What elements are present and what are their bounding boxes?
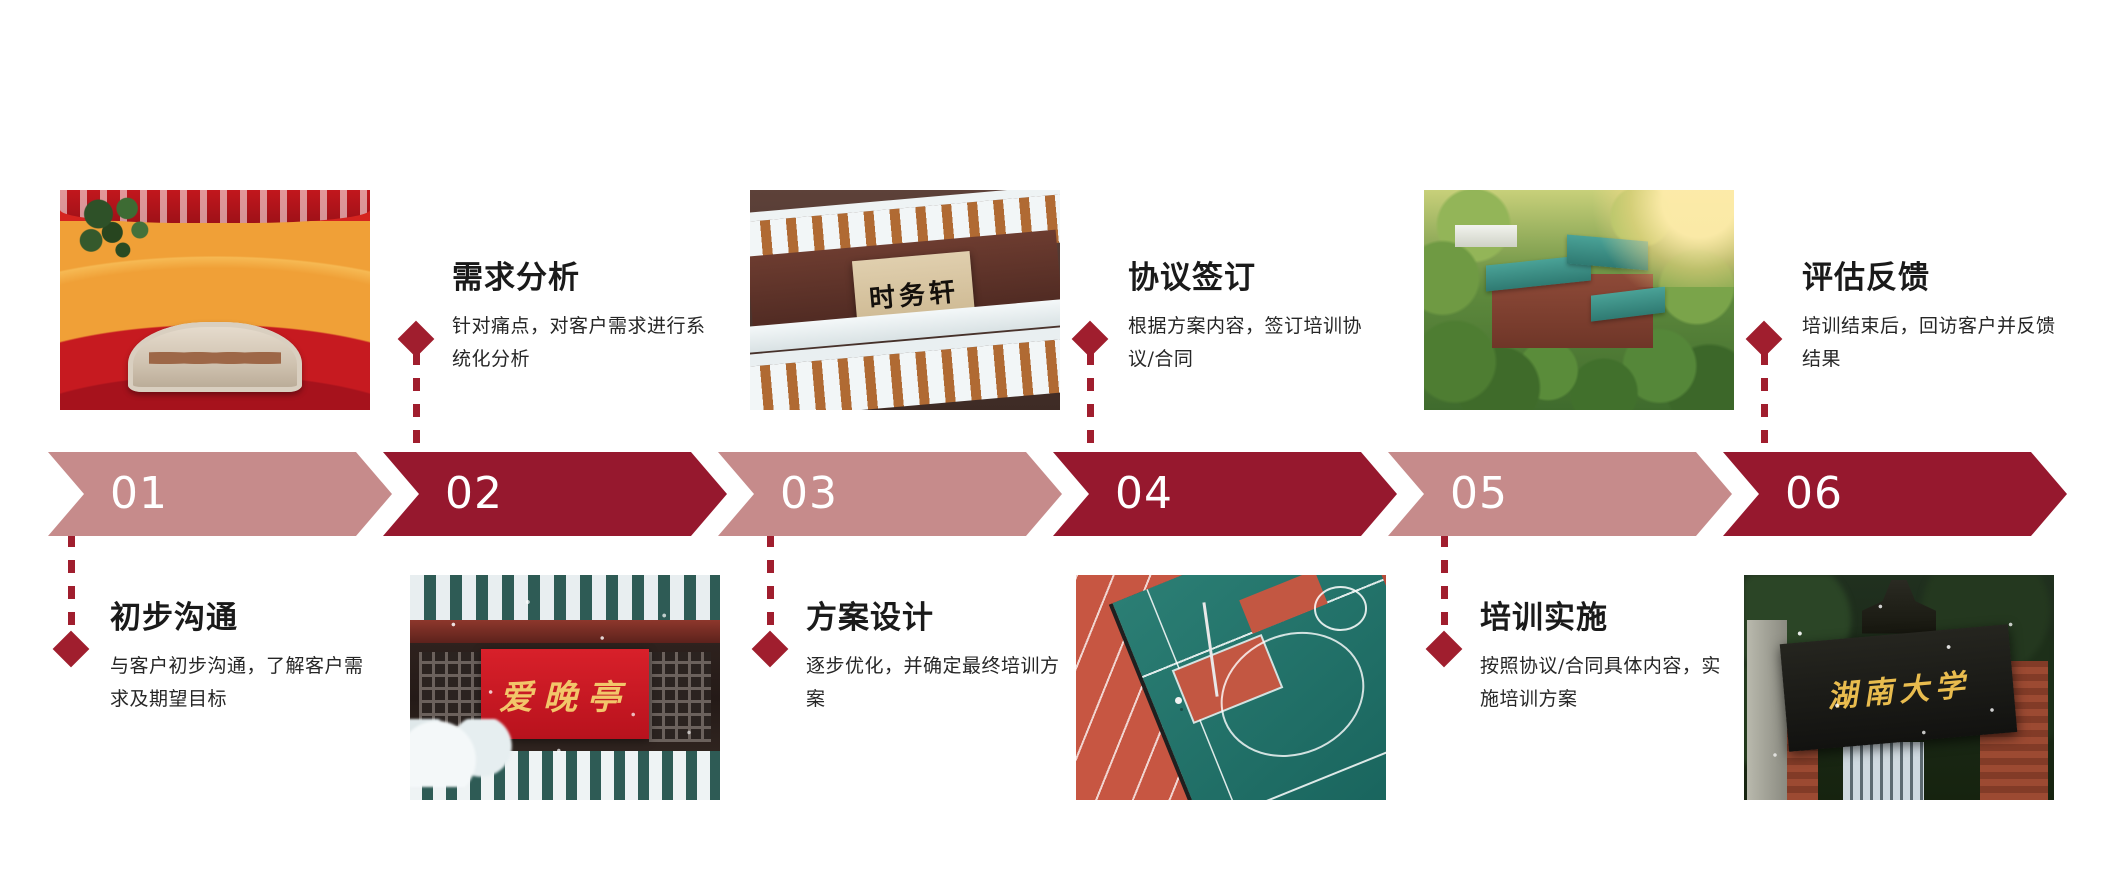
runner-figure-decor <box>1175 697 1182 704</box>
dashed-line-step-4 <box>1087 352 1094 454</box>
chevron-step-1[interactable]: 01 <box>48 452 392 536</box>
court-center-circle <box>1314 586 1368 631</box>
connector-step-6 <box>1747 326 1781 454</box>
diamond-marker-step-6 <box>1746 321 1783 358</box>
step-title-6: 评估反馈 <box>1802 260 2062 296</box>
step-title-3: 方案设计 <box>806 600 1066 636</box>
step-number-4: 04 <box>1115 472 1173 516</box>
step-number-3: 03 <box>780 472 838 516</box>
connector-step-4 <box>1073 326 1107 454</box>
step-text-block-2: 需求分析 针对痛点，对客户需求进行系统化分析 <box>452 260 712 376</box>
connector-step-1 <box>54 534 88 662</box>
step-title-4: 协议签订 <box>1128 260 1388 296</box>
snowflakes-decor <box>1744 575 2054 800</box>
step-title-2: 需求分析 <box>452 260 712 296</box>
step-number-5: 05 <box>1450 472 1508 516</box>
dashed-line-step-3 <box>767 534 774 636</box>
chevron-step-2[interactable]: 02 <box>383 452 727 536</box>
step-title-5: 培训实施 <box>1480 600 1740 636</box>
step-number-1: 01 <box>110 472 168 516</box>
step-body-4: 根据方案内容，签订培训协议/合同 <box>1128 310 1388 377</box>
step-number-6: 06 <box>1785 472 1843 516</box>
dashed-line-step-2 <box>413 352 420 454</box>
step-text-block-4: 协议签订 根据方案内容，签订培训协议/合同 <box>1128 260 1388 376</box>
step-title-1: 初步沟通 <box>110 600 370 636</box>
chevron-step-6[interactable]: 06 <box>1723 452 2067 536</box>
sun-glow-decor <box>1573 190 1734 287</box>
dashed-line-step-5 <box>1441 534 1448 636</box>
step-text-block-1: 初步沟通 与客户初步沟通，了解客户需求及期望目标 <box>110 600 370 716</box>
diamond-marker-step-4 <box>1072 321 1109 358</box>
step-body-5: 按照协议/合同具体内容，实施培训方案 <box>1480 650 1740 717</box>
timeline-diagram: 01 02 03 04 05 06 需求分析 针对痛点，对客户需求进行系统化分析… <box>0 0 2109 885</box>
step-body-6: 培训结束后，回访客户并反馈结果 <box>1802 310 2062 377</box>
step-body-1: 与客户初步沟通，了解客户需求及期望目标 <box>110 650 370 717</box>
connector-step-5 <box>1427 534 1461 662</box>
chevron-step-4[interactable]: 04 <box>1053 452 1397 536</box>
connector-step-2 <box>399 326 433 454</box>
step-text-block-5: 培训实施 按照协议/合同具体内容，实施培训方案 <box>1480 600 1740 716</box>
chevron-step-5[interactable]: 05 <box>1388 452 1732 536</box>
photo-snowy-gate-wooden-sign <box>750 190 1060 410</box>
chevron-step-3[interactable]: 03 <box>718 452 1062 536</box>
snowflakes-decor <box>410 575 720 800</box>
tree-foliage-decor <box>72 194 177 273</box>
step-text-block-3: 方案设计 逐步优化，并确定最终培训方案 <box>806 600 1066 716</box>
step-body-3: 逐步优化，并确定最终培训方案 <box>806 650 1066 717</box>
photo-dark-stone-gate-sign <box>1744 575 2054 800</box>
stone-plaque-decor <box>128 322 302 392</box>
diamond-marker-step-2 <box>398 321 435 358</box>
step-text-block-6: 评估反馈 培训结束后，回访客户并反馈结果 <box>1802 260 2062 376</box>
diamond-marker-step-1 <box>53 631 90 668</box>
photo-aerial-green-campus <box>1424 190 1734 410</box>
photo-snowy-hall-red-banner <box>410 575 720 800</box>
white-building-decor <box>1455 225 1517 247</box>
photo-red-temple-wall-plaque <box>60 190 370 410</box>
process-chevron-band: 01 02 03 04 05 06 <box>48 452 2066 536</box>
diamond-marker-step-3 <box>752 631 789 668</box>
connector-step-3 <box>753 534 787 662</box>
dashed-line-step-6 <box>1761 352 1768 454</box>
photo-aerial-track-basketball-court <box>1076 575 1386 800</box>
step-number-2: 02 <box>445 472 503 516</box>
dashed-line-step-1 <box>68 534 75 636</box>
step-body-2: 针对痛点，对客户需求进行系统化分析 <box>452 310 712 377</box>
diamond-marker-step-5 <box>1426 631 1463 668</box>
